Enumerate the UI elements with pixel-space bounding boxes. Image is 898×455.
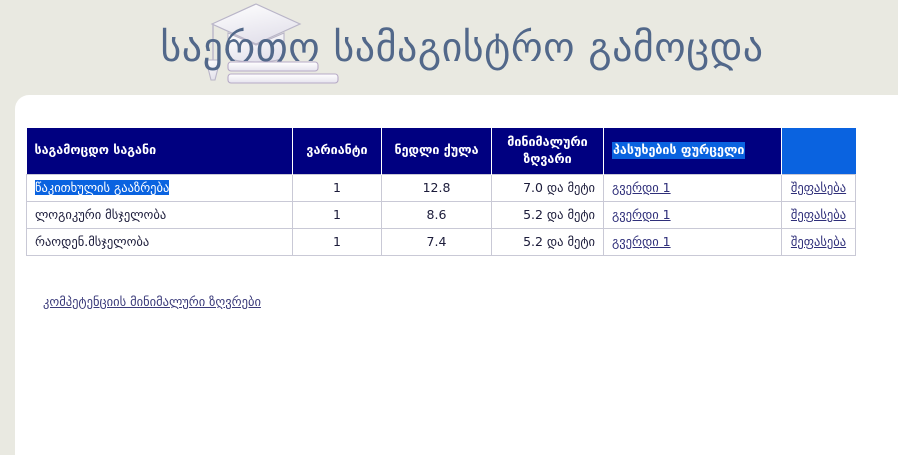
cell-variant: 1: [293, 174, 382, 201]
cell-answer-sheet[interactable]: გვერდი 1: [604, 201, 782, 228]
cell-minimum: 5.2 და მეტი: [492, 201, 604, 228]
evaluation-link[interactable]: შეფასება: [791, 207, 846, 222]
cell-evaluation[interactable]: შეფასება: [782, 228, 856, 255]
cell-subject[interactable]: წაკითხულის გააზრება: [27, 174, 293, 201]
cell-subject-text: წაკითხულის გააზრება: [35, 180, 169, 195]
cell-subject: ლოგიკური მსჯელობა: [27, 201, 293, 228]
column-header-raw-score[interactable]: ნედლი ქულა: [382, 128, 492, 174]
content-panel: საგამოცდო საგანი ვარიანტი ნედლი ქულა მინ…: [15, 95, 898, 455]
answer-sheet-link[interactable]: გვერდი 1: [612, 234, 671, 249]
column-header-variant[interactable]: ვარიანტი: [293, 128, 382, 174]
answer-sheet-link[interactable]: გვერდი 1: [612, 180, 671, 195]
page-title: საერთო სამაგისტრო გამოცდა: [134, 28, 763, 68]
cell-evaluation[interactable]: შეფასება: [782, 201, 856, 228]
cell-evaluation[interactable]: შეფასება: [782, 174, 856, 201]
column-header-minimum[interactable]: მინიმალური ზღვარი: [492, 128, 604, 174]
column-header-subject[interactable]: საგამოცდო საგანი: [27, 128, 293, 174]
cell-answer-sheet[interactable]: გვერდი 1: [604, 228, 782, 255]
cell-variant: 1: [293, 228, 382, 255]
page-title-wrap: საერთო სამაგისტრო გამოცდა: [0, 0, 898, 95]
cell-minimum: 5.2 და მეტი: [492, 228, 604, 255]
table-row: ლოგიკური მსჯელობა 1 8.6 5.2 და მეტი გვერ…: [27, 201, 856, 228]
table-row: წაკითხულის გააზრება 1 12.8 7.0 და მეტი გ…: [27, 174, 856, 201]
competency-minimums-link[interactable]: კომპეტენციის მინიმალური ზღვრები: [43, 294, 261, 309]
table-row: რაოდენ.მსჯელობა 1 7.4 5.2 და მეტი გვერდი…: [27, 228, 856, 255]
exam-results-page: საერთო სამაგისტრო გამოცდა საგამოცდო საგა…: [0, 0, 898, 455]
cell-minimum: 7.0 და მეტი: [492, 174, 604, 201]
cell-variant: 1: [293, 201, 382, 228]
exam-results-table: საგამოცდო საგანი ვარიანტი ნედლი ქულა მინ…: [26, 128, 856, 256]
cell-subject: რაოდენ.მსჯელობა: [27, 228, 293, 255]
cell-answer-sheet[interactable]: გვერდი 1: [604, 174, 782, 201]
column-header-evaluation[interactable]: [782, 128, 856, 174]
evaluation-link[interactable]: შეფასება: [791, 180, 846, 195]
column-header-answer-sheet-label: პასუხების ფურცელი: [612, 142, 745, 159]
evaluation-link[interactable]: შეფასება: [791, 234, 846, 249]
cell-raw-score: 7.4: [382, 228, 492, 255]
answer-sheet-link[interactable]: გვერდი 1: [612, 207, 671, 222]
table-header-row: საგამოცდო საგანი ვარიანტი ნედლი ქულა მინ…: [27, 128, 856, 174]
cell-raw-score: 12.8: [382, 174, 492, 201]
page-banner: საერთო სამაგისტრო გამოცდა: [0, 0, 898, 95]
cell-raw-score: 8.6: [382, 201, 492, 228]
column-header-answer-sheet[interactable]: პასუხების ფურცელი: [604, 128, 782, 174]
